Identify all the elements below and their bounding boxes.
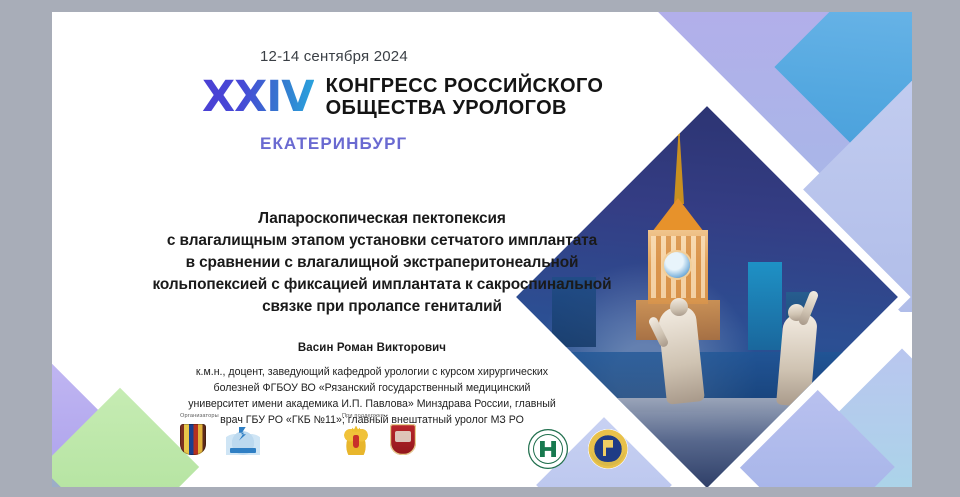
title-line-4: кольпопексией с фиксацией имплантата к с… [92,274,672,296]
author-name: Васин Роман Викторович [92,342,652,354]
congress-title-line1: КОНГРЕСС РОССИЙСКОГО [326,75,604,97]
presentation-title: Лапароскопическая пектопексия с влагалищ… [92,208,672,317]
yekaterinburg-coat-of-arms-icon [390,424,416,455]
title-line-1: Лапароскопическая пектопексия [92,208,672,230]
seal-group [528,429,628,469]
sverdlovsk-coat-of-arms-icon [180,424,206,455]
presentation-slide[interactable]: 12-14 сентября 2024 XXIV КОНГРЕСС РОССИЙ… [52,12,912,487]
title-line-3: в сравнении с влагалищной экстраперитоне… [92,252,672,274]
support-logo-list [342,424,416,455]
congress-date: 12-14 сентября 2024 [260,48,662,65]
congress-title-line2: ОБЩЕСТВА УРОЛОГОВ [326,97,604,119]
seal-list [528,429,628,469]
congress-city: ЕКАТЕРИНБУРГ [260,134,662,154]
ural-medical-university-logo-icon [226,425,260,455]
organizers-label: Организаторы [180,413,260,419]
green-medical-seal-icon [528,429,568,469]
blue-gold-seal-icon [588,429,628,469]
photo-building-right [748,262,782,350]
congress-number: XXIV [202,76,314,119]
screenshot-root: 12-14 сентября 2024 XXIV КОНГРЕСС РОССИЙ… [0,0,960,497]
support-group: При поддержке [342,413,416,455]
congress-header: 12-14 сентября 2024 XXIV КОНГРЕСС РОССИЙ… [202,48,662,154]
support-label: При поддержке [342,413,416,419]
statue-right [776,313,818,408]
organizers-logo-list [180,424,260,455]
congress-title: КОНГРЕСС РОССИЙСКОГО ОБЩЕСТВА УРОЛОГОВ [326,75,604,120]
rf-crown [352,426,360,432]
title-line-2: с влагалищным этапом установки сетчатого… [92,230,672,252]
statue-left-head [670,298,688,316]
diamond-corner-steel [52,434,155,487]
seal-wreath [591,434,625,466]
title-line-5: связке при пролапсе гениталий [92,296,672,318]
affiliation-line-3: университет имени академика И.П. Павлова… [102,396,642,412]
affiliation-line-1: к.м.н., доцент, заведующий кафедрой урол… [102,364,642,380]
affiliation-line-2: болезней ФГБОУ ВО «Рязанский государстве… [102,380,642,396]
footer-logos: Организаторы При поддержке [180,413,700,477]
congress-logo-row: XXIV КОНГРЕСС РОССИЙСКОГО ОБЩЕСТВА УРОЛО… [202,75,662,120]
organizers-group: Организаторы [180,413,260,455]
umu-bar [230,448,256,453]
tower-spire [674,124,684,204]
russian-federation-emblem-icon [342,425,370,455]
